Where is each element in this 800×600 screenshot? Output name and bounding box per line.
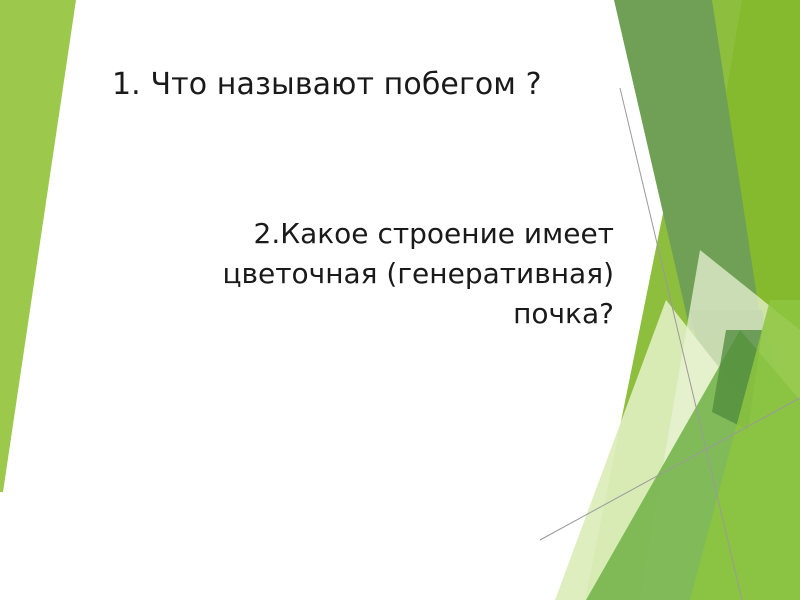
question-1-text: 1. Что называют побегом ? [112,66,612,104]
right-sage-band-lower [690,310,800,470]
question-2-line-1: 2.Какое строение имеет [110,214,614,254]
bottom-pale-overlay [640,250,800,600]
slide-text-content: 1. Что называют побегом ? 2.Какое строен… [0,0,620,600]
question-2-line-3: почка? [110,294,614,334]
bottom-dark-triangle [712,330,762,430]
question-2-text: 2.Какое строение имеет цветочная (генера… [110,214,614,333]
right-lime-overlay [690,300,800,600]
hairline-steep [620,88,742,600]
slide-canvas: 1. Что называют побегом ? 2.Какое строен… [0,0,800,600]
right-sage-band [614,0,762,330]
right-lime-band [640,0,800,600]
question-2-line-2: цветочная (генеративная) [110,254,614,294]
